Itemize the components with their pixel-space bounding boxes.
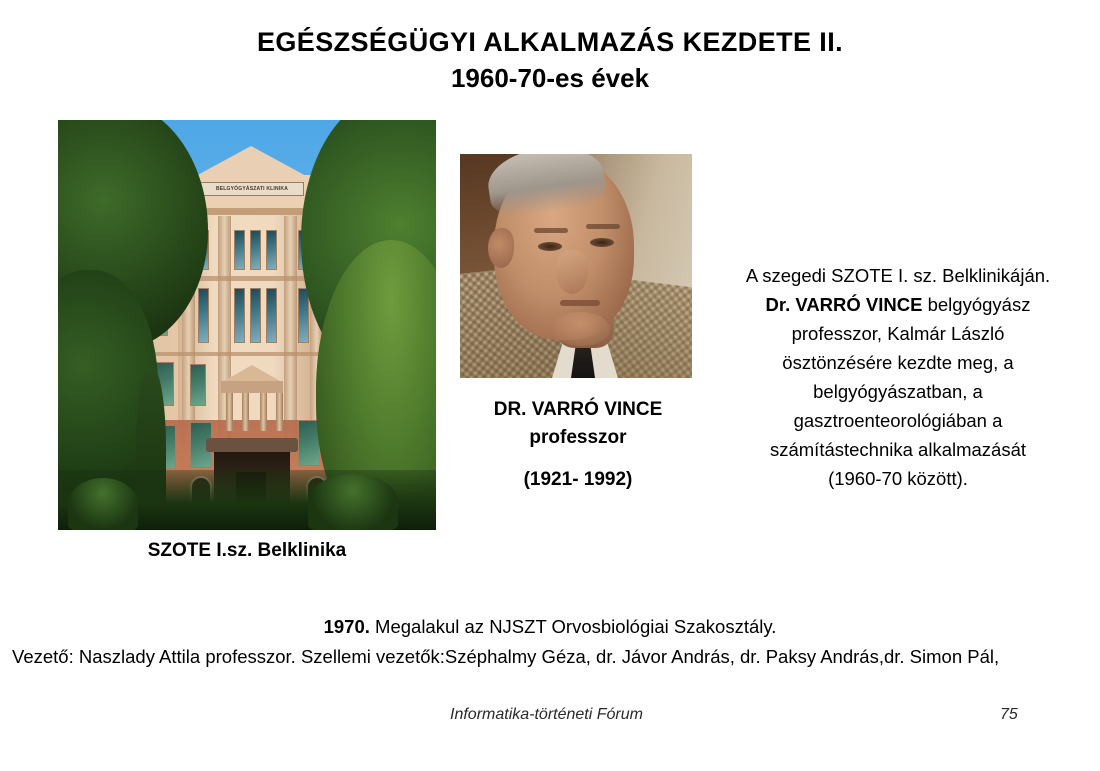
portico-column	[276, 393, 283, 431]
portrait-caption-years: (1921- 1992)	[438, 466, 718, 494]
portrait-caption-name: DR. VARRÓ VINCE	[438, 396, 718, 424]
portico-column	[260, 393, 267, 431]
eyebrow-right	[586, 224, 620, 229]
chin	[552, 312, 610, 346]
window	[266, 288, 277, 343]
building-photo-caption: SZOTE I.sz. Belklinika	[58, 540, 436, 562]
slide-footer: Informatika-történeti Fórum 75	[0, 706, 1100, 730]
eye-left	[538, 242, 562, 251]
window	[234, 288, 245, 343]
title-line-2: 1960-70-es évek	[0, 60, 1100, 96]
portrait-caption: DR. VARRÓ VINCE professzor (1921- 1992)	[438, 396, 718, 494]
building-inscription: BELGYÓGYÁSZATI KLINIKA	[200, 182, 304, 196]
portico-architrave	[221, 381, 283, 393]
window	[250, 230, 261, 270]
right-paragraph-part-2: belgyógyász professzor, Kalmár László ös…	[770, 294, 1030, 489]
portico-pediment	[224, 365, 280, 381]
right-description-paragraph: A szegedi SZOTE I. sz. Belklinikáján. Dr…	[742, 261, 1054, 493]
title-line-1: EGÉSZSÉGÜGYI ALKALMAZÁS KEZDETE II.	[0, 24, 1100, 60]
right-paragraph-bold-name: Dr. VARRÓ VINCE	[766, 294, 923, 315]
window	[190, 364, 206, 406]
right-paragraph-part-1: A szegedi SZOTE I. sz. Belklinikáján.	[746, 265, 1050, 286]
bottom-line-1-rest: Megalakul az NJSZT Orvosbiológiai Szakos…	[370, 616, 776, 637]
szote-belklinika-building-photo: BELGYÓGYÁSZATI KLINIKA	[58, 120, 436, 530]
slide-title: EGÉSZSÉGÜGYI ALKALMAZÁS KEZDETE II. 1960…	[0, 24, 1100, 96]
portico-column	[242, 393, 249, 431]
bottom-line-2: Vezető: Naszlady Attila professzor. Szel…	[12, 642, 1088, 672]
shrub	[308, 474, 398, 530]
dr-varro-vince-portrait	[460, 154, 692, 378]
eye-right	[590, 238, 614, 247]
portico-column	[226, 393, 233, 431]
window	[250, 288, 261, 343]
footer-title: Informatika-történeti Fórum	[450, 706, 643, 724]
bottom-line-1: 1970. Megalakul az NJSZT Orvosbiológiai …	[12, 612, 1088, 642]
pilaster	[284, 216, 297, 446]
bottom-description-paragraph: 1970. Megalakul az NJSZT Orvosbiológiai …	[12, 612, 1088, 672]
window	[198, 288, 209, 343]
bottom-year-bold: 1970.	[324, 616, 370, 637]
entrance-canopy	[206, 438, 298, 452]
footer-page-number: 75	[1000, 706, 1018, 724]
mouth	[560, 300, 600, 306]
nose	[556, 250, 588, 294]
ear	[488, 228, 514, 268]
shrub	[68, 478, 138, 530]
window	[266, 230, 277, 270]
window	[234, 230, 245, 270]
eyebrow-left	[534, 228, 568, 233]
portrait-caption-role: professzor	[438, 424, 718, 452]
